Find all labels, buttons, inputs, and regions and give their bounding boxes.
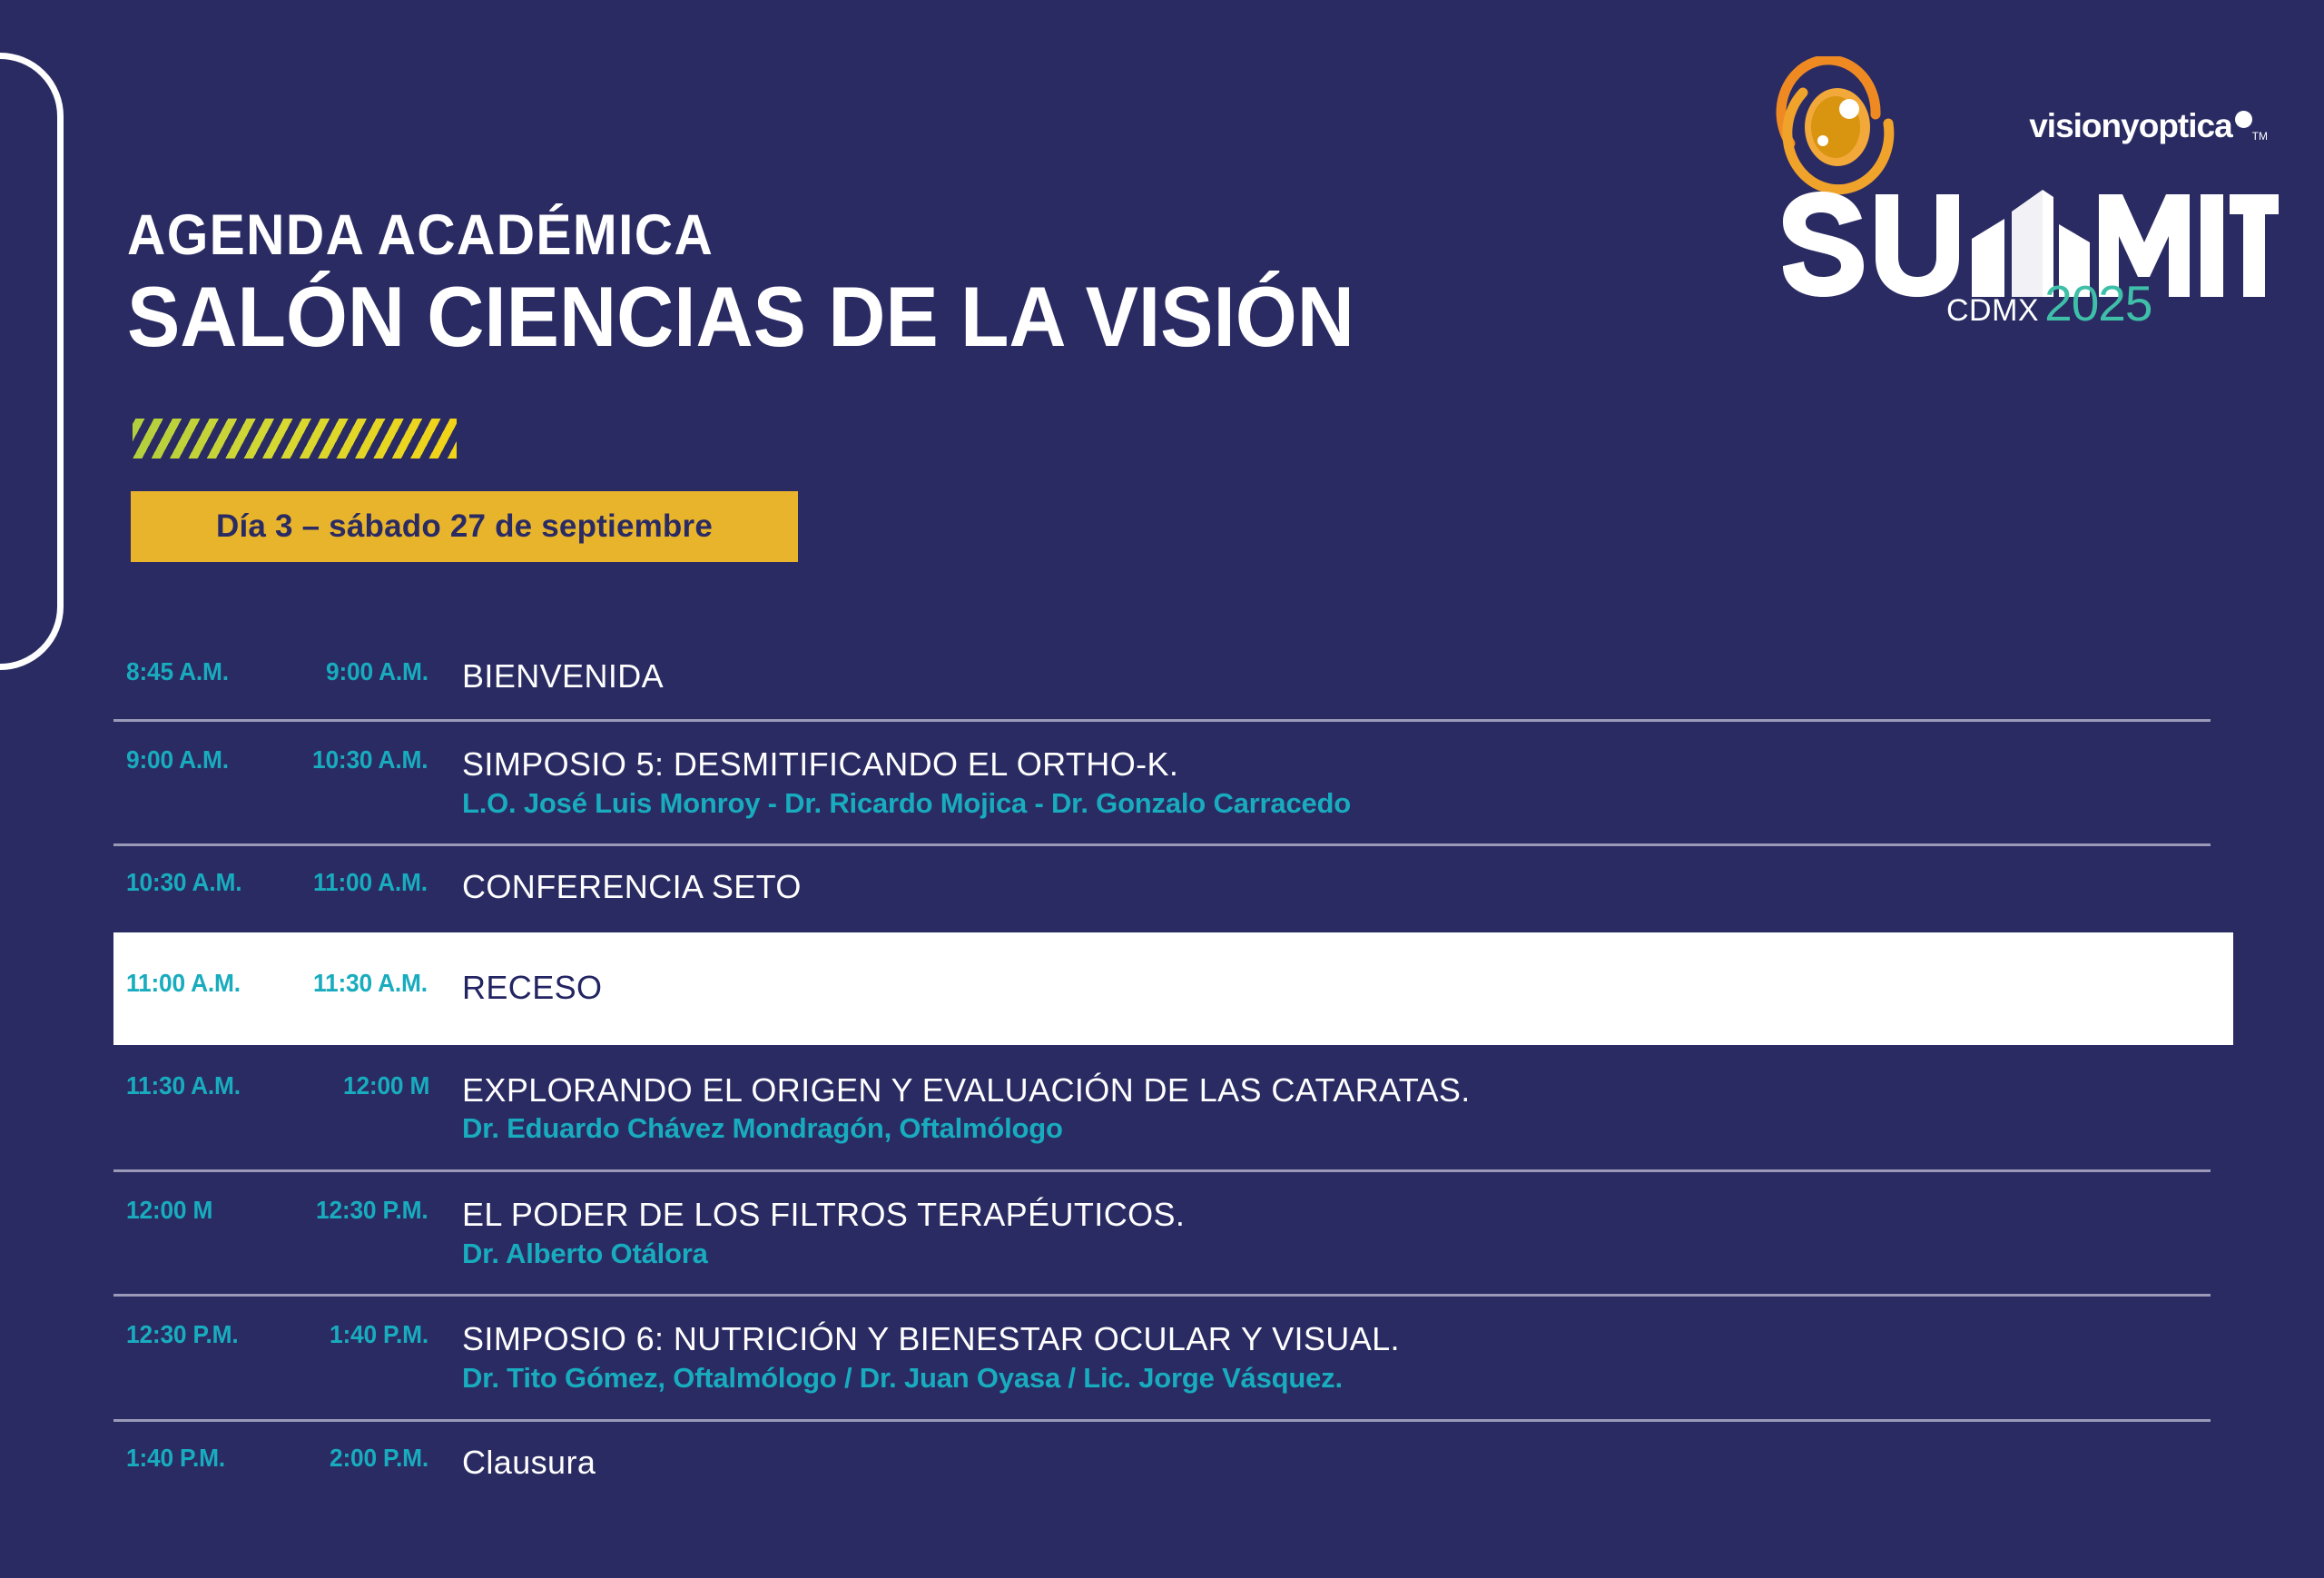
visionyoptica-brandmark: visionyoptica TM bbox=[2029, 109, 2268, 143]
row-start-time: 8:45 A.M. bbox=[126, 657, 229, 686]
row-body: EXPLORANDO EL ORIGEN Y EVALUACIÓN DE LAS… bbox=[451, 1071, 2233, 1146]
row-start-time: 12:00 M bbox=[126, 1196, 212, 1225]
registered-mark-icon bbox=[2235, 111, 2252, 128]
logo-year-label: 2025 bbox=[2044, 281, 2152, 327]
row-speakers: Dr. Eduardo Chávez Mondragón, Oftalmólog… bbox=[462, 1112, 2233, 1146]
schedule-row-highlighted: 11:00 A.M. 11:30 A.M. RECESO bbox=[113, 932, 2233, 1045]
row-body: RECESO bbox=[451, 969, 2233, 1007]
schedule-table: 8:45 A.M. 9:00 A.M. BIENVENIDA 9:00 A.M.… bbox=[113, 636, 2233, 1504]
row-start-time: 10:30 A.M. bbox=[126, 868, 241, 897]
row-speakers: Dr. Tito Gómez, Oftalmólogo / Dr. Juan O… bbox=[462, 1362, 2233, 1396]
row-start-time: 1:40 P.M. bbox=[126, 1444, 225, 1473]
row-end-time: 11:00 A.M. bbox=[313, 868, 428, 897]
schedule-row: 9:00 A.M. 10:30 A.M. SIMPOSIO 5: DESMITI… bbox=[113, 722, 2233, 843]
agenda-poster: AGENDA ACADÉMICA SALÓN CIENCIAS DE LA VI… bbox=[0, 0, 2324, 1578]
row-title: SIMPOSIO 6: NUTRICIÓN Y BIENESTAR OCULAR… bbox=[462, 1320, 2233, 1358]
row-start-time: 9:00 A.M. bbox=[126, 745, 229, 774]
summit-logo: visionyoptica TM bbox=[1763, 56, 2271, 338]
row-body: SIMPOSIO 5: DESMITIFICANDO EL ORTHO-K. L… bbox=[451, 745, 2233, 820]
row-end-time: 2:00 P.M. bbox=[330, 1444, 428, 1473]
row-times: 1:40 P.M. 2:00 P.M. bbox=[113, 1444, 451, 1473]
schedule-row: 1:40 P.M. 2:00 P.M. Clausura bbox=[113, 1422, 2233, 1505]
row-end-time: 11:30 A.M. bbox=[313, 969, 428, 998]
schedule-row: 8:45 A.M. 9:00 A.M. BIENVENIDA bbox=[113, 636, 2233, 719]
eye-spiral-icon bbox=[1763, 56, 1908, 202]
row-start-time: 11:30 A.M. bbox=[126, 1071, 241, 1100]
row-start-time: 12:30 P.M. bbox=[126, 1320, 238, 1349]
row-start-time: 11:00 A.M. bbox=[126, 969, 241, 998]
row-end-time: 1:40 P.M. bbox=[330, 1320, 428, 1349]
row-end-time: 9:00 A.M. bbox=[326, 657, 428, 686]
logo-city-label: CDMX bbox=[1946, 293, 2039, 329]
row-title: CONFERENCIA SETO bbox=[462, 868, 2233, 906]
row-body: CONFERENCIA SETO bbox=[451, 868, 2233, 906]
row-title: EL PODER DE LOS FILTROS TERAPÉUTICOS. bbox=[462, 1196, 2233, 1234]
row-body: EL PODER DE LOS FILTROS TERAPÉUTICOS. Dr… bbox=[451, 1196, 2233, 1270]
logo-cdmx-year: CDMX 2025 bbox=[1946, 281, 2152, 329]
row-times: 12:30 P.M. 1:40 P.M. bbox=[113, 1320, 451, 1349]
visionyoptica-wordmark: visionyoptica bbox=[2029, 109, 2231, 143]
row-title: EXPLORANDO EL ORIGEN Y EVALUACIÓN DE LAS… bbox=[462, 1071, 2233, 1110]
row-end-time: 12:30 P.M. bbox=[316, 1196, 428, 1225]
row-speakers: Dr. Alberto Otálora bbox=[462, 1238, 2233, 1271]
page-kicker: AGENDA ACADÉMICA bbox=[127, 207, 1354, 264]
row-end-time: 12:00 M bbox=[343, 1071, 429, 1100]
row-times: 10:30 A.M. 11:00 A.M. bbox=[113, 868, 451, 897]
row-end-time: 10:30 A.M. bbox=[312, 745, 428, 774]
row-title: SIMPOSIO 5: DESMITIFICANDO EL ORTHO-K. bbox=[462, 745, 2233, 784]
row-times: 8:45 A.M. 9:00 A.M. bbox=[113, 657, 451, 686]
day-badge: Día 3 – sábado 27 de septiembre bbox=[131, 491, 798, 562]
row-times: 11:30 A.M. 12:00 M bbox=[113, 1071, 451, 1100]
page-header: AGENDA ACADÉMICA SALÓN CIENCIAS DE LA VI… bbox=[127, 207, 1447, 360]
row-body: Clausura bbox=[451, 1444, 2233, 1482]
schedule-row: 10:30 A.M. 11:00 A.M. CONFERENCIA SETO bbox=[113, 846, 2233, 930]
row-times: 12:00 M 12:30 P.M. bbox=[113, 1196, 451, 1225]
row-body: SIMPOSIO 6: NUTRICIÓN Y BIENESTAR OCULAR… bbox=[451, 1320, 2233, 1395]
row-body: BIENVENIDA bbox=[451, 657, 2233, 695]
schedule-row: 12:30 P.M. 1:40 P.M. SIMPOSIO 6: NUTRICI… bbox=[113, 1297, 2233, 1418]
page-title: SALÓN CIENCIAS DE LA VISIÓN bbox=[127, 273, 1354, 360]
schedule-row: 12:00 M 12:30 P.M. EL PODER DE LOS FILTR… bbox=[113, 1172, 2233, 1294]
trademark-label: TM bbox=[2252, 130, 2268, 143]
row-title: Clausura bbox=[462, 1444, 2233, 1482]
schedule-row: 11:30 A.M. 12:00 M EXPLORANDO EL ORIGEN … bbox=[113, 1048, 2233, 1169]
row-title: RECESO bbox=[462, 969, 2233, 1007]
left-bracket-decoration bbox=[0, 53, 64, 670]
row-speakers: L.O. José Luis Monroy - Dr. Ricardo Moji… bbox=[462, 787, 2233, 821]
row-times: 9:00 A.M. 10:30 A.M. bbox=[113, 745, 451, 774]
hatch-stripes-decoration bbox=[133, 419, 457, 459]
day-badge-label: Día 3 – sábado 27 de septiembre bbox=[216, 508, 713, 545]
row-title: BIENVENIDA bbox=[462, 657, 2233, 695]
row-times: 11:00 A.M. 11:30 A.M. bbox=[113, 969, 451, 998]
